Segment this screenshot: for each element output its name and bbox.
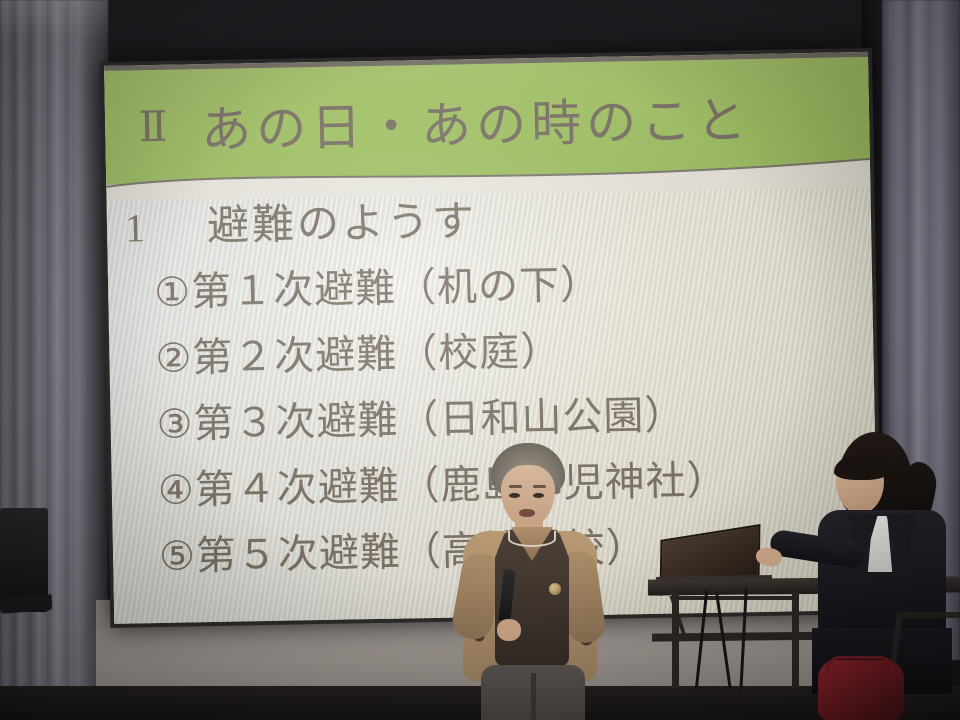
presenter-eye	[509, 493, 520, 498]
slide-title-text: あの日・あの時のこと	[201, 80, 752, 162]
presenter-eyebrow	[509, 485, 522, 488]
list-item-text: 第３次避難（日和山公園）	[193, 392, 686, 447]
presenter-eyebrow	[533, 485, 546, 488]
list-item-marker: ①	[154, 269, 192, 316]
slide-title-numeral: Ⅱ	[105, 101, 202, 153]
table-brace	[670, 596, 807, 636]
presenter-leg-gap	[531, 673, 536, 720]
list-item-text: 第１次避難（机の下）	[191, 262, 602, 316]
screenshot-root: Ⅱ あの日・あの時のこと 1 避難のようす ①第１次避難（机の下） ②第２次避難…	[0, 0, 960, 720]
curtain-highlight	[0, 0, 108, 40]
slide-title-band: Ⅱ あの日・あの時のこと	[104, 52, 870, 185]
list-item-marker: ②	[155, 335, 193, 382]
presenter-eye	[533, 493, 544, 498]
presenter-brooch	[549, 583, 561, 595]
presenter-hand	[497, 619, 521, 641]
section-number: 1	[111, 203, 208, 252]
list-item-marker: ③	[156, 401, 194, 448]
red-bag-handle	[826, 656, 894, 673]
list-item-marker: ④	[157, 467, 195, 514]
list-item-text: 第２次避難（校庭）	[192, 329, 562, 382]
list-item-marker: ⑤	[159, 533, 197, 580]
presenter-elderly-woman	[455, 443, 605, 720]
presenter-mouth	[519, 509, 535, 517]
curtain-fold	[70, 0, 72, 700]
presenter-face	[501, 465, 555, 527]
presenter-necklace	[508, 531, 556, 547]
section-heading-text: 避難のようす	[206, 187, 477, 253]
